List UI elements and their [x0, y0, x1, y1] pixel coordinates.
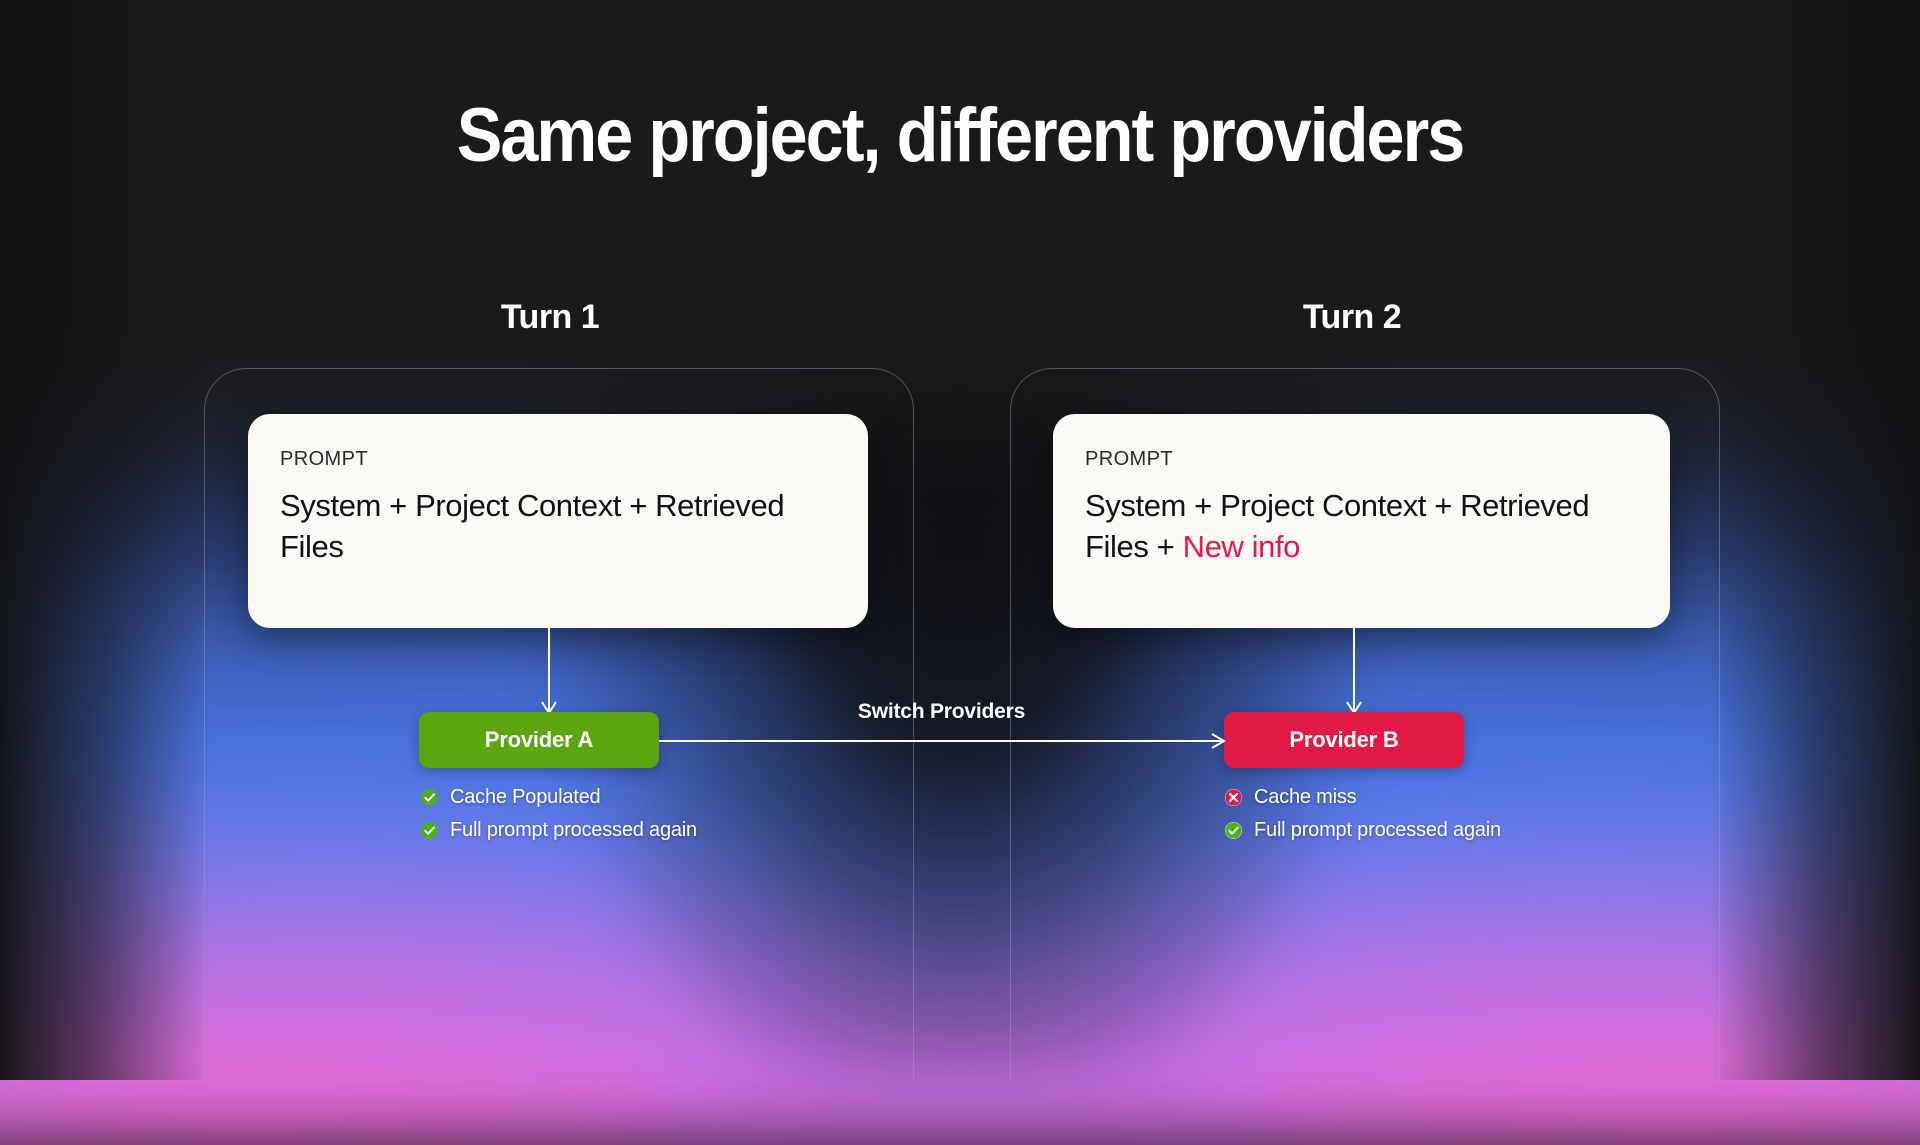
check-circle-icon [420, 821, 439, 840]
list-item: Cache Populated [420, 786, 697, 809]
prompt-card-turn-1: PROMPT System + Project Context + Retrie… [248, 414, 868, 628]
prompt-body: System + Project Context + Retrieved Fil… [280, 485, 836, 567]
provider-a-button[interactable]: Provider A [419, 712, 659, 768]
prompt-kicker: PROMPT [1085, 448, 1638, 471]
provider-b-status-list: Cache miss Full prompt processed again [1224, 786, 1501, 852]
arrow-head-right-icon [1210, 733, 1226, 749]
list-item: Full prompt processed again [1224, 819, 1501, 842]
list-item-label: Full prompt processed again [1254, 819, 1501, 842]
provider-a-label: Provider A [485, 727, 593, 753]
turn-2-label: Turn 2 [1222, 298, 1482, 337]
arrow-down-turn-1-icon [538, 628, 560, 714]
list-item-label: Cache miss [1254, 786, 1356, 809]
list-item-label: Cache Populated [450, 786, 600, 809]
provider-b-label: Provider B [1289, 727, 1398, 753]
switch-providers-arrow-icon [659, 733, 1224, 749]
prompt-body-text: System + Project Context + Retrieved Fil… [280, 488, 784, 564]
provider-b-button[interactable]: Provider B [1224, 712, 1464, 768]
prompt-card-turn-2: PROMPT System + Project Context + Retrie… [1053, 414, 1670, 628]
check-circle-icon [420, 788, 439, 807]
prompt-body: System + Project Context + Retrieved Fil… [1085, 485, 1638, 567]
x-circle-icon [1224, 788, 1243, 807]
list-item-label: Full prompt processed again [450, 819, 697, 842]
list-item: Full prompt processed again [420, 819, 697, 842]
prompt-body-text: System + Project Context + Retrieved Fil… [1085, 488, 1589, 564]
diagram-stage: Same project, different providers Turn 1… [0, 0, 1920, 1080]
prompt-body-highlight: New info [1183, 529, 1300, 564]
switch-providers-label: Switch Providers [659, 700, 1224, 724]
turn-1-label: Turn 1 [420, 298, 680, 337]
check-circle-icon [1224, 821, 1243, 840]
arrow-down-turn-2-icon [1343, 628, 1365, 714]
provider-a-status-list: Cache Populated Full prompt processed ag… [420, 786, 697, 852]
prompt-kicker: PROMPT [280, 448, 836, 471]
page-title: Same project, different providers [96, 92, 1824, 179]
list-item: Cache miss [1224, 786, 1501, 809]
